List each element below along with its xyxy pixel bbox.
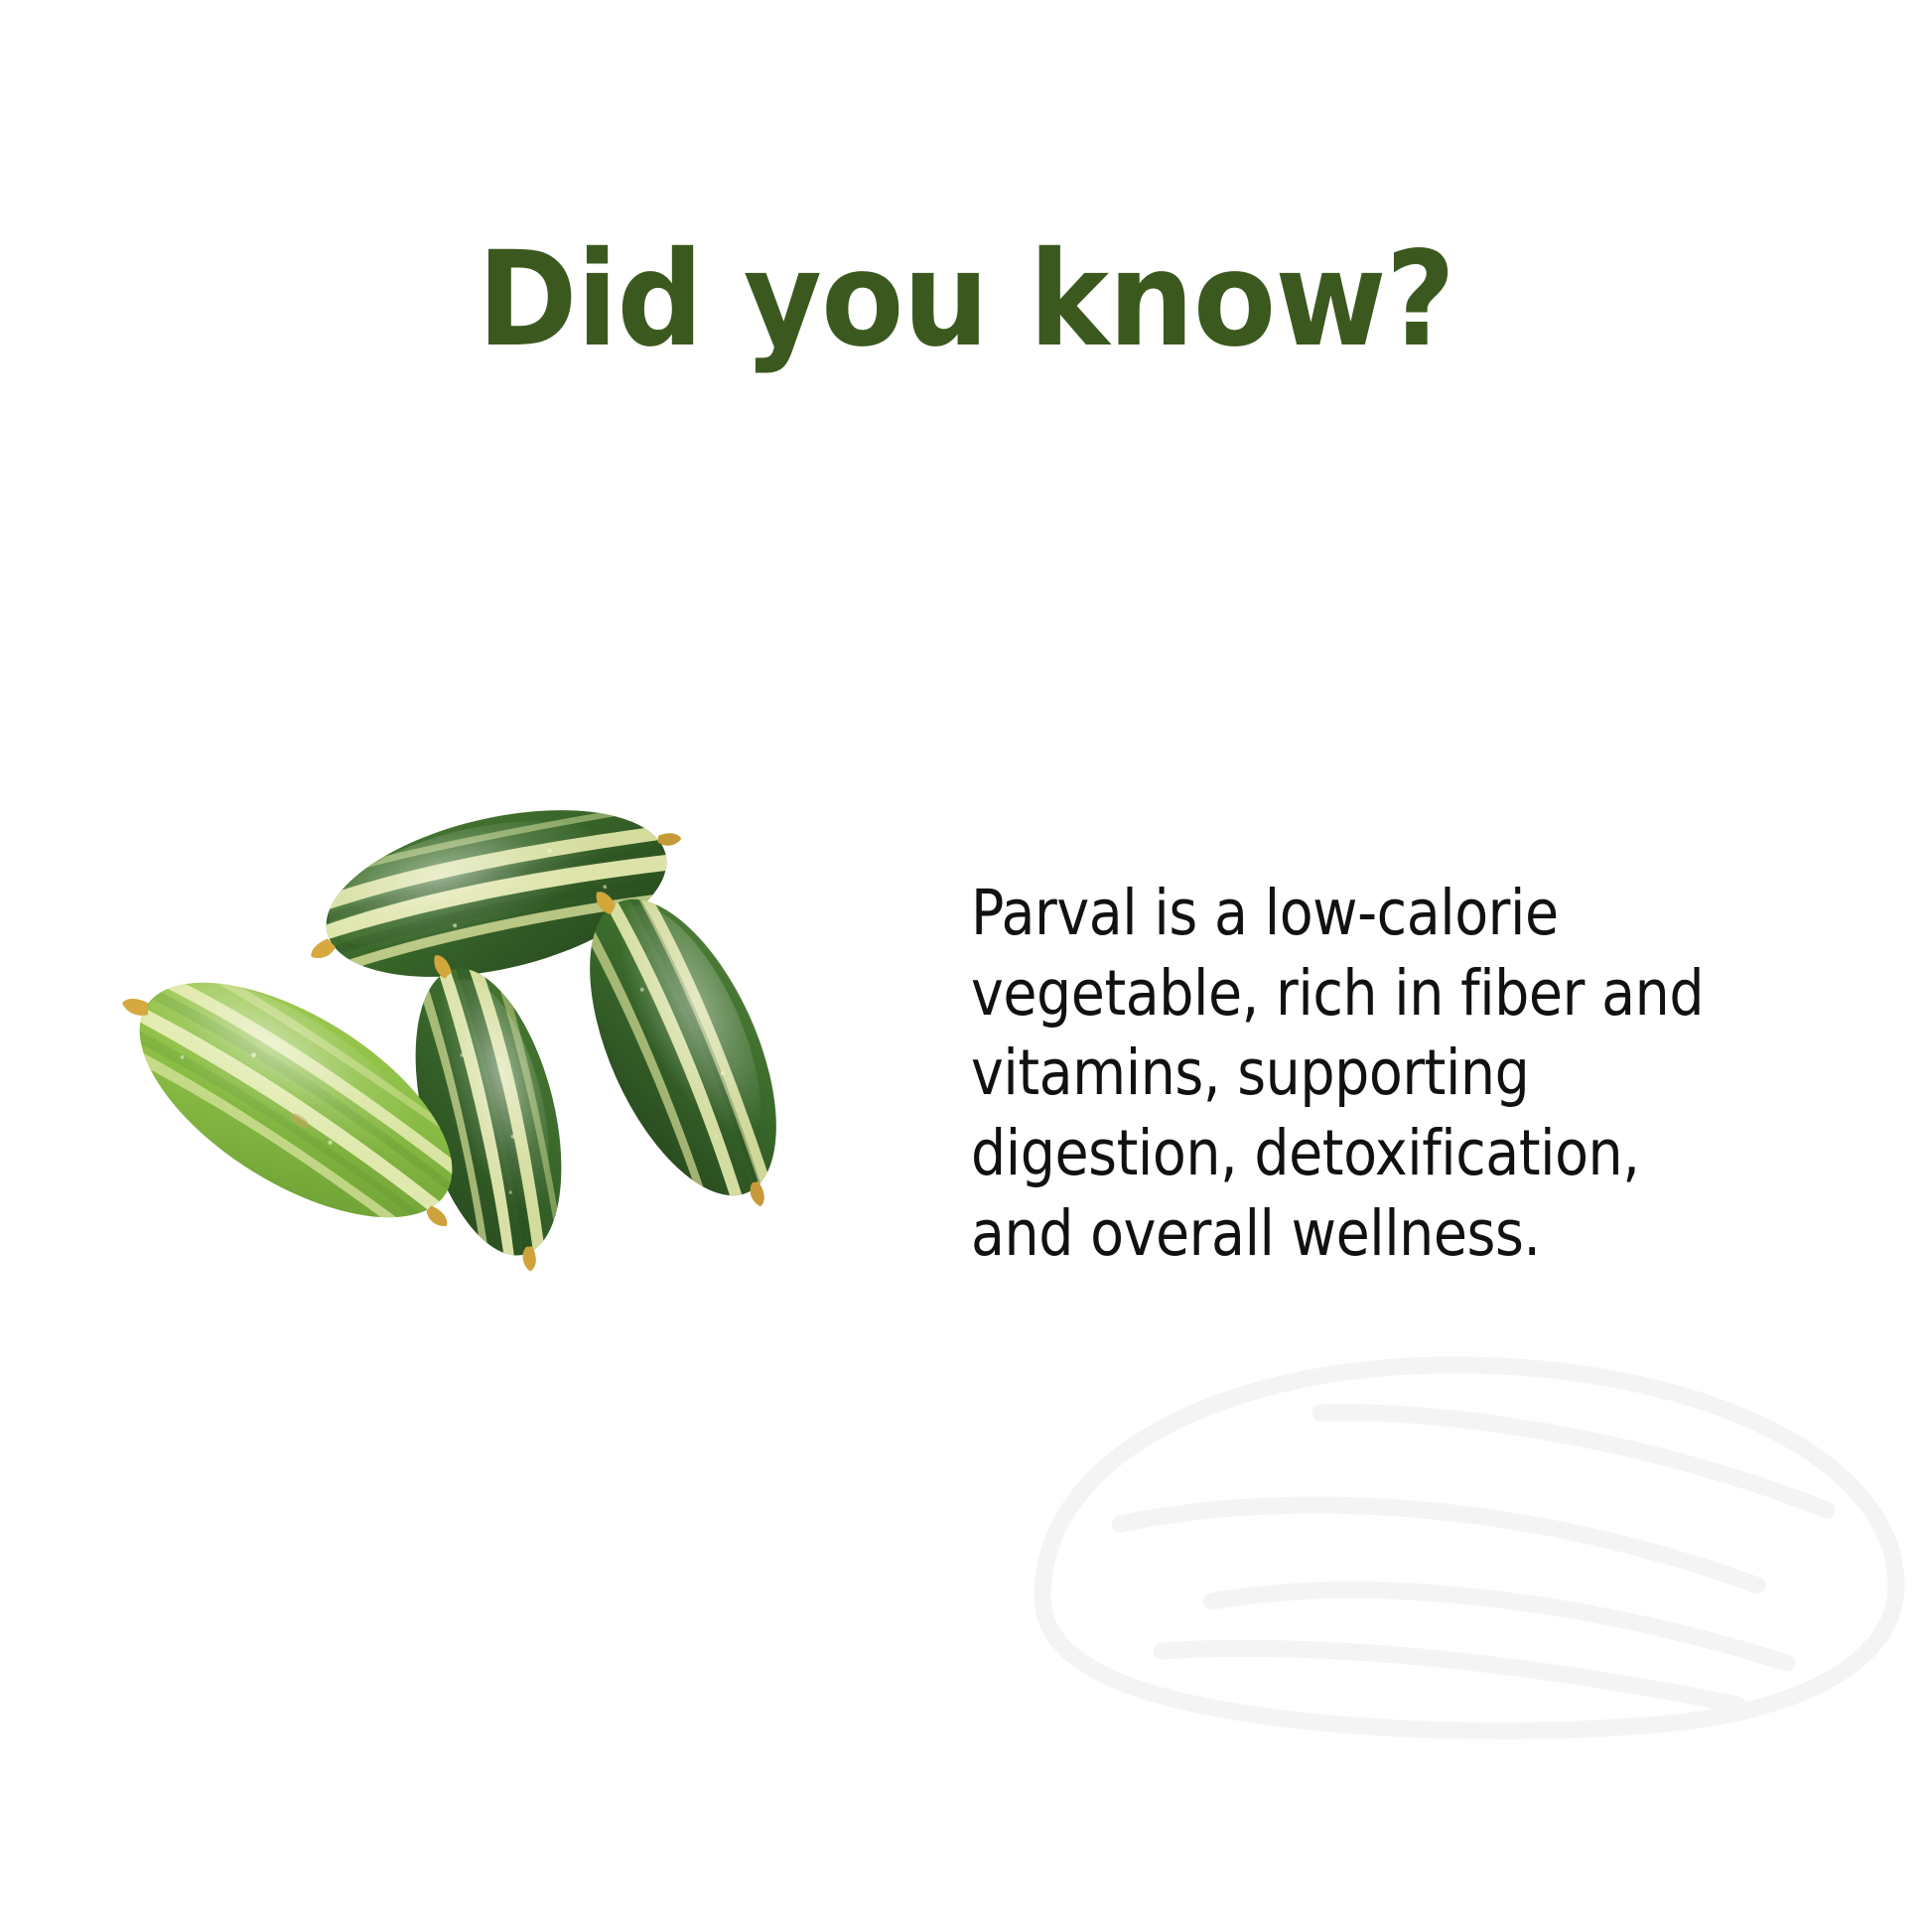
page-title: Did you know? [77,234,1855,365]
gourd-watermark-icon [1003,1335,1932,1772]
parval-photo [60,596,933,1330]
poster-canvas: Did you know? [0,0,1932,1932]
body-text: Parval is a low-calorie vegetable, rich … [971,874,1723,1274]
